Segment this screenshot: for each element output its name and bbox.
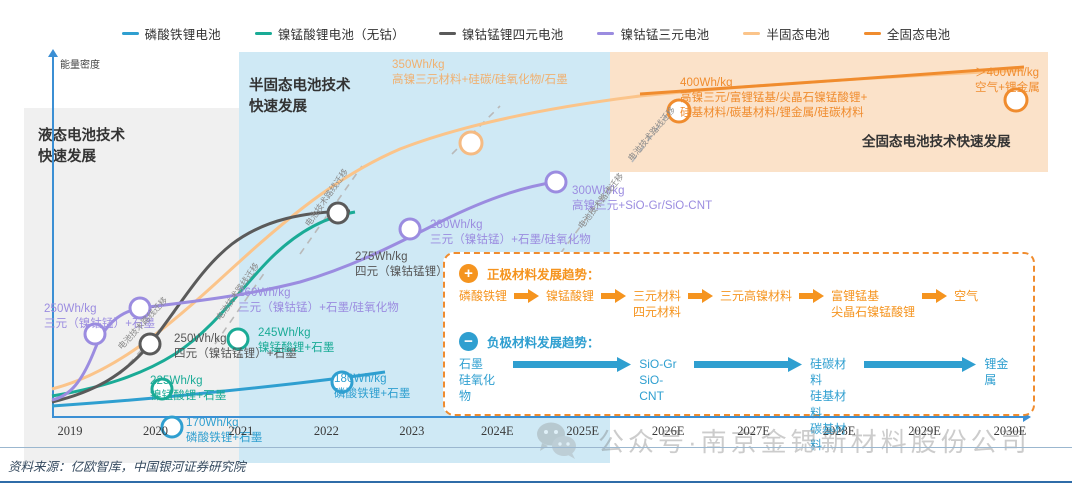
positive-material-0: 磷酸铁锂 (459, 288, 507, 304)
arrow-right-icon (694, 357, 802, 372)
x-tick-2019: 2019 (58, 424, 83, 439)
legend-label-lnmo: 镍锰酸锂电池（无钴） (278, 24, 405, 43)
positive-material-chain: 磷酸铁锂镍锰酸锂三元材料 四元材料三元高镍材料富锂锰基 尖晶石镍锰酸锂空气 (459, 288, 1019, 320)
legend-item-solid-state[interactable]: 全固态电池 (864, 24, 951, 43)
chart-legend: 磷酸铁锂电池镍锰酸锂电池（无钴）镍钴锰锂四元电池镍钴锰三元电池半固态电池全固态电… (0, 22, 1072, 44)
x-tick-2021: 2021 (228, 424, 253, 439)
positive-material-2: 三元材料 四元材料 (633, 288, 681, 320)
legend-item-lnmo[interactable]: 镍锰酸锂电池（无钴） (255, 24, 405, 43)
chain-arrow (694, 356, 802, 377)
legend-swatch-lfp (122, 32, 139, 35)
chain-arrow (922, 288, 947, 308)
point-label-镍锰酸锂电池（无钴）-2: 225Wh/kg镍锰酸锂+石墨 (150, 374, 226, 404)
negative-material-chain: 石墨 硅氧化物SiO-Gr SiO-CNT硅碳材料 硅基材料 碳基材料锂金属 (459, 356, 1019, 453)
positive-material-3: 三元高镍材料 (720, 288, 792, 304)
legend-label-ncm: 镍钴锰三元电池 (620, 24, 709, 43)
positive-trend-title: 正极材料发展趋势： (487, 264, 600, 283)
arrow-right-icon (799, 289, 824, 303)
positive-trend-header: + 正极材料发展趋势： (459, 264, 600, 283)
legend-swatch-ncm (597, 32, 614, 35)
point-label-半固态电池-3: 350Wh/kg高镍三元材料+硅碳/硅氧化物/石墨 (392, 58, 568, 88)
minus-icon: − (459, 332, 478, 351)
point-label-镍钴锰三元电池-2: 260Wh/kg三元（镍钴锰）+石墨/硅氧化物 (238, 286, 399, 316)
positive-material-4: 富锂锰基 尖晶石镍锰酸锂 (831, 288, 915, 320)
marker-ncma-275 (328, 203, 348, 223)
negative-material-1: SiO-Gr SiO-CNT (639, 356, 686, 405)
legend-item-semi-solid[interactable]: 半固态电池 (743, 24, 830, 43)
marker-semi-350 (460, 132, 482, 154)
chain-arrow (514, 288, 539, 308)
point-sublabel: 高镍三元材料+硅碳/硅氧化物/石墨 (392, 73, 568, 88)
arrow-right-icon (601, 289, 626, 303)
footer-bottom-rule (0, 481, 1072, 483)
arrow-right-icon (688, 289, 713, 303)
legend-swatch-solid-state (864, 32, 881, 35)
chain-arrow (601, 288, 626, 308)
positive-material-5: 空气 (954, 288, 978, 304)
legend-swatch-lnmo (255, 32, 272, 35)
negative-trend-title: 负极材料发展趋势： (487, 332, 600, 351)
point-label-镍钴锰三元电池-4: 280Wh/kg三元（镍钴锰）+石墨/硅氧化物 (430, 218, 591, 248)
point-sublabel: 磷酸铁锂+石墨 (334, 387, 410, 402)
legend-label-solid-state: 全固态电池 (887, 24, 951, 43)
arrow-right-icon (514, 289, 539, 303)
legend-label-semi-solid: 半固态电池 (766, 24, 830, 43)
arrow-right-icon (922, 289, 947, 303)
chain-arrow (513, 356, 631, 377)
arrow-right-icon (864, 357, 976, 372)
marker-ncm-300 (546, 172, 566, 192)
x-tick-2020: 2020 (143, 424, 168, 439)
negative-material-3: 锂金属 (984, 356, 1019, 388)
negative-material-0: 石墨 硅氧化物 (459, 356, 505, 405)
marker-ncm-280 (400, 219, 420, 239)
legend-item-ncma[interactable]: 镍钴锰锂四元电池 (439, 24, 564, 43)
legend-item-ncm[interactable]: 镍钴锰三元电池 (597, 24, 709, 43)
point-sublabel: 镍锰酸锂+石墨 (150, 389, 226, 404)
negative-material-2: 硅碳材料 硅基材料 碳基材料 (810, 356, 856, 453)
chain-arrow (688, 288, 713, 308)
point-sublabel: 三元（镍钴锰）+石墨/硅氧化物 (430, 233, 591, 248)
marker-ncma-250 (140, 334, 160, 354)
legend-swatch-ncma (439, 32, 456, 35)
footer-divider (0, 447, 1072, 448)
positive-material-1: 镍锰酸锂 (546, 288, 594, 304)
point-sublabel: 空气+锂金属 (975, 81, 1040, 96)
point-label-磷酸铁锂电池-5: 180Wh/kg磷酸铁锂+石墨 (334, 372, 410, 402)
x-tick-2023: 2023 (399, 424, 424, 439)
chain-arrow (864, 356, 976, 377)
chart-page: 磷酸铁锂电池镍锰酸锂电池（无钴）镍钴锰锂四元电池镍钴锰三元电池半固态电池全固态电… (0, 0, 1072, 484)
legend-item-lfp[interactable]: 磷酸铁锂电池 (122, 24, 221, 43)
x-tick-2022: 2022 (314, 424, 339, 439)
legend-swatch-semi-solid (743, 32, 760, 35)
plus-icon: + (459, 264, 478, 283)
point-label-全固态电池-1: ＞400Wh/kg空气+锂金属 (975, 66, 1040, 96)
negative-trend-header: − 负极材料发展趋势： (459, 332, 600, 351)
source-note: 资料来源：亿欧智库，中国银河证券研究院 (8, 456, 246, 475)
arrow-right-icon (513, 357, 631, 372)
chain-arrow (799, 288, 824, 308)
point-sublabel: 三元（镍钴锰）+石墨/硅氧化物 (238, 301, 399, 316)
point-sublabel: 高镍三元/富锂锰基/尖晶石镍锰酸锂+ 硅基材料/碳基材料/锂金属/硅碳材料 (680, 91, 867, 121)
material-trend-box: + 正极材料发展趋势： 磷酸铁锂镍锰酸锂三元材料 四元材料三元高镍材料富锂锰基 … (443, 252, 1035, 416)
legend-label-lfp: 磷酸铁锂电池 (145, 24, 221, 43)
legend-label-ncma: 镍钴锰锂四元电池 (462, 24, 564, 43)
point-sublabel: 镍锰酸锂+石墨 (258, 341, 334, 356)
point-label-全固态电池-0: 400Wh/kg高镍三元/富锂锰基/尖晶石镍锰酸锂+ 硅基材料/碳基材料/锂金属… (680, 76, 867, 122)
point-label-镍锰酸锂电池（无钴）-3: 245Wh/kg镍锰酸锂+石墨 (258, 326, 334, 356)
